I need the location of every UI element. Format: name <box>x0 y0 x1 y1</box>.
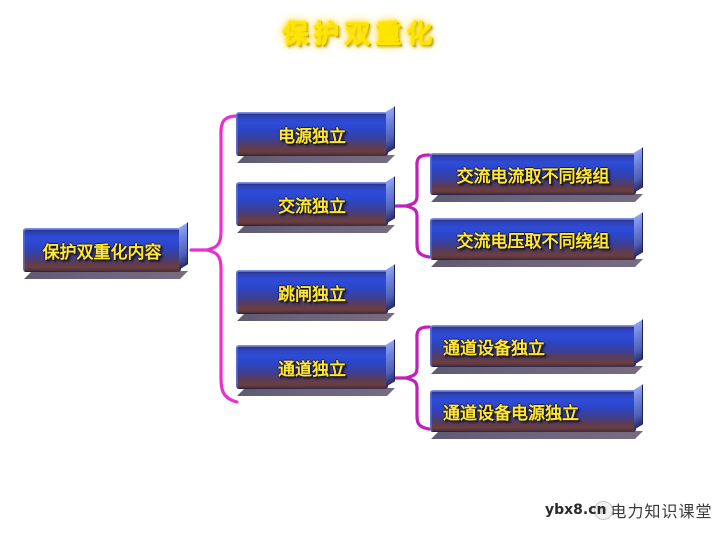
watermark: ybx8.cn 电力知识课堂 <box>545 498 713 522</box>
node-ac-independent-label: 交流独立 <box>278 192 346 217</box>
node-ac-voltage-windings[interactable]: 交流电压取不同绕组 <box>430 218 636 260</box>
node-channel-independent-label: 通道独立 <box>278 355 346 380</box>
node-ac-current-windings[interactable]: 交流电流取不同绕组 <box>430 153 636 195</box>
slide-canvas: 保护双重化 保护双重化内容 电源独立 交流独立 跳闸独立 通道独立 交流电流取不… <box>0 0 720 540</box>
watermark-url: ybx8.cn <box>545 502 607 518</box>
node-channel-equipment-independent[interactable]: 通道设备独立 <box>430 325 636 367</box>
watermark-brand: 电力知识课堂 <box>611 498 713 522</box>
node-trip-independent[interactable]: 跳闸独立 <box>236 270 388 314</box>
node-channel-equipment-power-independent-label: 通道设备电源独立 <box>443 399 579 424</box>
node-root-label: 保护双重化内容 <box>43 238 162 263</box>
node-channel-independent[interactable]: 通道独立 <box>236 345 388 389</box>
node-root[interactable]: 保护双重化内容 <box>23 228 181 272</box>
node-channel-equipment-power-independent[interactable]: 通道设备电源独立 <box>430 390 636 432</box>
node-power-independent[interactable]: 电源独立 <box>236 112 388 156</box>
node-trip-independent-label: 跳闸独立 <box>278 280 346 305</box>
node-ac-independent[interactable]: 交流独立 <box>236 182 388 226</box>
node-power-independent-label: 电源独立 <box>278 122 346 147</box>
page-title: 保护双重化 <box>0 14 720 51</box>
node-ac-voltage-windings-label: 交流电压取不同绕组 <box>457 227 610 252</box>
node-ac-current-windings-label: 交流电流取不同绕组 <box>457 162 610 187</box>
node-channel-equipment-independent-label: 通道设备独立 <box>443 334 545 359</box>
